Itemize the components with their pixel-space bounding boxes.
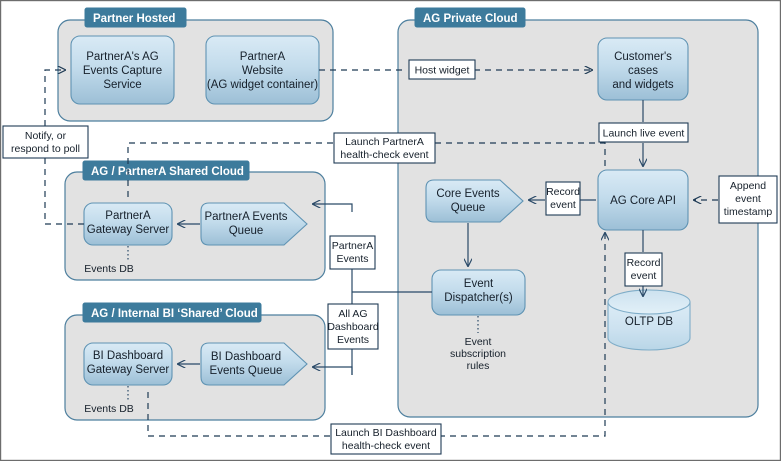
node-customers-cases-and-widgets[interactable]: Customer's cases and widgets (598, 38, 688, 100)
node-bi-dashboard-events-queue-line2: Events Queue (210, 365, 283, 377)
label-all-ag-dashboard-events-line3: Events (337, 334, 369, 346)
label-launch-partnera-hc-line1: Launch PartnerA (345, 136, 424, 148)
event-subscription-rules-line1: Event (465, 336, 492, 348)
label-record-event-queue-line1: Record (546, 186, 580, 198)
event-subscription-rules-line3: rules (467, 360, 490, 372)
node-partnera-gateway-server[interactable]: PartnerA Gateway Server (84, 203, 172, 245)
label-launch-bi-hc-line2: health-check event (342, 440, 430, 452)
label-launch-partnera-hc-line2: health-check event (340, 149, 428, 161)
node-event-dispatchers[interactable]: Event Dispatcher(s) (432, 270, 525, 315)
events-db-bi-label: Events DB (84, 403, 134, 415)
label-all-ag-dashboard-events-line2: Dashboard (327, 321, 379, 333)
label-append-event-timestamp-line1: Append (730, 180, 766, 192)
label-record-event-db-line1: Record (627, 257, 661, 269)
node-ag-core-api-line1: AG Core API (610, 195, 676, 207)
node-partnera-events-queue-line2: Queue (229, 225, 264, 237)
label-launch-bi-hc-line1: Launch BI Dashboard (335, 427, 437, 439)
node-customers-cases-line3: and widgets (612, 79, 674, 91)
node-core-events-queue-line2: Queue (451, 202, 486, 214)
node-oltp-db[interactable]: OLTP DB (608, 290, 690, 350)
label-launch-live-event-text: Launch live event (603, 128, 685, 140)
label-append-event-timestamp-line3: timestamp (724, 206, 773, 218)
node-ag-core-api[interactable]: AG Core API (598, 170, 688, 230)
group-ag-internal-bi-shared-cloud-title: AG / Internal BI ‘Shared’ Cloud (91, 308, 258, 320)
node-partnera-website-line1: PartnerA (240, 51, 286, 63)
node-bi-dashboard-gateway-server[interactable]: BI Dashboard Gateway Server (84, 343, 172, 385)
node-bi-dashboard-gateway-server-line2: Gateway Server (87, 364, 170, 376)
node-bi-dashboard-events-queue-line1: BI Dashboard (211, 351, 281, 363)
node-bi-dashboard-events-queue[interactable]: BI Dashboard Events Queue (201, 343, 307, 385)
node-event-dispatchers-line1: Event (464, 278, 494, 290)
node-partnera-capture-service-line2: Events Capture (83, 65, 162, 77)
node-oltp-db-label: OLTP DB (625, 316, 673, 328)
label-partnera-events-line2: Events (336, 253, 368, 265)
node-oltp-db-top (608, 290, 690, 314)
label-record-event-db-line2: event (631, 270, 657, 282)
node-partnera-capture-service-line3: Service (103, 79, 141, 91)
label-host-widget-text: Host widget (415, 65, 470, 77)
node-partnera-events-queue-line1: PartnerA Events (204, 211, 287, 223)
label-notify-line1: Notify, or (25, 130, 67, 142)
label-partnera-events-line1: PartnerA (332, 240, 373, 252)
label-all-ag-dashboard-events-line1: All AG (338, 308, 367, 320)
node-customers-cases-line1: Customer's (614, 51, 672, 63)
node-partnera-capture-service-line1: PartnerA's AG (86, 51, 159, 63)
event-subscription-rules-line2: subscription (450, 348, 506, 360)
node-partnera-events-queue[interactable]: PartnerA Events Queue (201, 203, 307, 245)
events-db-partnera-label: Events DB (84, 263, 134, 275)
node-partnera-events-queue-shape[interactable] (201, 203, 307, 245)
label-notify-line2: respond to poll (11, 143, 80, 155)
group-ag-partnera-shared-cloud-title: AG / PartnerA Shared Cloud (91, 166, 244, 178)
group-ag-private-cloud-title: AG Private Cloud (423, 13, 518, 25)
node-partnera-capture-service[interactable]: PartnerA's AG Events Capture Service (71, 36, 174, 104)
node-bi-dashboard-gateway-server-line1: BI Dashboard (93, 350, 163, 362)
architecture-diagram: Partner Hosted PartnerA's AG Events Capt… (0, 0, 781, 461)
node-partnera-website[interactable]: PartnerA Website (AG widget container) (206, 36, 319, 104)
group-partner-hosted-title: Partner Hosted (93, 13, 175, 25)
node-bi-dashboard-events-queue-shape[interactable] (201, 343, 307, 385)
label-append-event-timestamp-line2: event (735, 193, 761, 205)
node-partnera-gateway-server-line2: Gateway Server (87, 224, 170, 236)
node-core-events-queue-line1: Core Events (436, 188, 500, 200)
node-event-dispatchers-line2: Dispatcher(s) (444, 292, 513, 304)
node-partnera-gateway-server-line1: PartnerA (105, 210, 151, 222)
node-partnera-website-line3: (AG widget container) (207, 79, 318, 91)
node-partnera-website-line2: Website (242, 65, 283, 77)
label-record-event-queue-line2: event (550, 199, 576, 211)
node-customers-cases-line2: cases (628, 65, 658, 77)
